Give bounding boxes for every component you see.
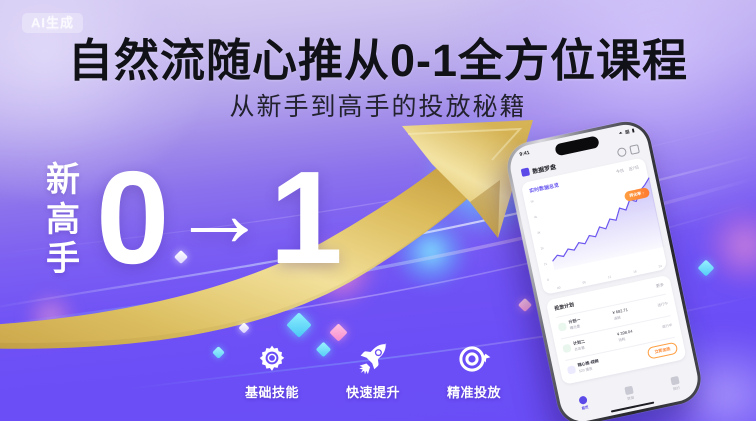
x-tick-2: 12 [607, 275, 611, 280]
chart-x-axis: 00 06 12 18 24 [557, 264, 662, 290]
message-icon[interactable] [629, 144, 640, 155]
particle-diamond-white-1 [238, 322, 249, 333]
chart-plot-area: 5k 4k 3k 2k 1k 0 [530, 176, 660, 282]
x-tick-3: 18 [633, 269, 637, 274]
row-subtitle: 曝光量 [569, 324, 580, 331]
page-title: 自然流随心推从0-1全方位课程 [0, 38, 756, 83]
phone-tabbar: 首页 数据 我的 [559, 368, 701, 419]
row-icon [558, 322, 567, 331]
tab-data-label: 数据 [627, 395, 635, 401]
home-indicator [611, 401, 654, 412]
y-tick-0: 5k [530, 198, 538, 203]
gear-icon [256, 342, 288, 376]
ai-generated-watermark: AI生成 [22, 13, 83, 33]
hero-zero: 0 [96, 152, 167, 284]
row-name: 计划二 [573, 339, 586, 347]
vertical-tag-char-1: 新 [46, 163, 80, 198]
row-subtitle: 520 播放 [579, 367, 594, 375]
row-value: ¥ 682.71 [612, 307, 628, 315]
tab-profile-label: 我的 [672, 385, 680, 391]
plan-list-more[interactable]: 更多 [655, 282, 664, 290]
vertical-tag: 新 高 手 [37, 163, 89, 277]
particle-diamond-cyan-4 [698, 260, 715, 277]
status-bar-icons: ⏶ ▦ ▮ [618, 128, 636, 137]
vertical-tag-char-2: 高 [46, 203, 80, 238]
chart-y-axis: 5k 4k 3k 2k 1k 0 [530, 198, 554, 282]
x-tick-0: 00 [557, 285, 561, 290]
chart-badge: 转化率 ↑ [624, 187, 651, 202]
feature-label: 精准投放 [447, 382, 501, 401]
table-row[interactable]: 计划二 点击量 ¥ 398.04 消耗 进行中 [561, 315, 675, 359]
glow-pink-4 [700, 206, 756, 286]
y-tick-2: 3k [537, 230, 545, 235]
hero-arrow-icon: → [171, 166, 267, 262]
row-name: 计划一 [568, 317, 581, 325]
page-subtitle: 从新手到高手的投放秘籍 [0, 95, 756, 120]
chart-icon [624, 385, 633, 394]
plan-list-title: 投放计划 [554, 301, 575, 312]
table-row[interactable]: 随心推-视频 520 播放 立即加热 [565, 337, 679, 381]
feature-fast-growth: 快速提升 [329, 342, 417, 401]
table-row[interactable]: 计划一 曝光量 ¥ 682.71 消耗 进行中 [556, 294, 670, 338]
chart-tab-today[interactable]: 今日 [616, 168, 625, 176]
glow-pink-2 [462, 148, 532, 206]
particle-diamond-pink-1 [329, 323, 347, 341]
phone-mockup: 9:41 ⏶ ▦ ▮ 数据罗盘 实时数据总览 今日 近7日 [503, 106, 747, 377]
plan-list-card: 投放计划 更多 计划一 曝光量 ¥ 682.71 消耗 进行中 计划二 点击量 [546, 275, 687, 385]
chart-label: 实时数据总览 [529, 182, 560, 195]
hero-zero-to-one: 0 → 1 [96, 152, 341, 284]
user-icon [670, 375, 679, 384]
home-icon [579, 395, 588, 404]
feature-label: 快速提升 [346, 382, 400, 401]
glow-cyan-2 [392, 215, 470, 289]
phone-screen: 9:41 ⏶ ▦ ▮ 数据罗盘 实时数据总览 今日 近7日 [506, 121, 702, 421]
row-value-label: 消耗 [618, 337, 626, 343]
x-tick-1: 06 [582, 280, 586, 285]
app-name: 数据罗盘 [531, 161, 556, 175]
chart-tabs: 今日 近7日 [616, 165, 640, 176]
feature-precise-delivery: 精准投放 [430, 342, 518, 401]
row-status: 进行中 [662, 323, 673, 330]
feature-basic-skills: 基础技能 [228, 342, 316, 401]
row-name: 随心推-视频 [577, 358, 599, 368]
promo-banner: AI生成 自然流随心推从0-1全方位课程 从新手到高手的投放秘籍 新 高 手 0… [0, 0, 756, 421]
tab-home-label: 首页 [581, 405, 589, 411]
row-icon [562, 344, 571, 353]
boost-button[interactable]: 立即加热 [647, 342, 679, 360]
x-tick-4: 24 [658, 264, 662, 269]
tab-home[interactable]: 首页 [559, 387, 609, 418]
y-tick-5: 0 [547, 277, 555, 282]
glow-cyan-3 [556, 296, 706, 416]
chart-line [539, 175, 664, 271]
row-subtitle: 点击量 [574, 346, 585, 353]
phone-notch [554, 135, 600, 156]
tab-profile[interactable]: 我的 [650, 368, 700, 399]
glow-white-bottom [640, 330, 756, 421]
vertical-tag-char-3: 手 [46, 242, 80, 277]
hero-one: 1 [269, 152, 340, 284]
tab-data[interactable]: 数据 [605, 378, 655, 409]
phone-frame: 9:41 ⏶ ▦ ▮ 数据罗盘 实时数据总览 今日 近7日 [503, 117, 706, 421]
app-header-icons [616, 144, 639, 157]
chart-card: 实时数据总览 今日 近7日 5k 4k 3k 2k 1k 0 [521, 157, 668, 295]
row-value: ¥ 398.04 [617, 328, 633, 336]
app-logo-icon [521, 167, 530, 176]
row-value-label: 消耗 [613, 316, 621, 322]
glow-pink-3 [22, 292, 80, 342]
target-icon [457, 342, 491, 376]
glow-cyan-1 [420, 118, 550, 238]
particle-diamond-cyan-1 [286, 312, 311, 337]
particle-diamond-cyan-3 [212, 346, 225, 359]
rocket-icon [356, 342, 390, 376]
y-tick-1: 4k [534, 214, 542, 219]
feature-row: 基础技能 快速提升 [228, 342, 518, 401]
chart-tab-week[interactable]: 近7日 [628, 165, 639, 173]
y-tick-3: 2k [540, 245, 548, 250]
particle-diamond-pink-2 [518, 298, 532, 312]
app-header: 数据罗盘 [510, 139, 650, 182]
status-bar-time: 9:41 [519, 150, 530, 158]
row-icon [567, 365, 576, 374]
row-status: 进行中 [657, 301, 668, 308]
y-tick-4: 1k [544, 261, 552, 266]
notification-icon[interactable] [616, 146, 627, 157]
feature-label: 基础技能 [245, 382, 299, 401]
